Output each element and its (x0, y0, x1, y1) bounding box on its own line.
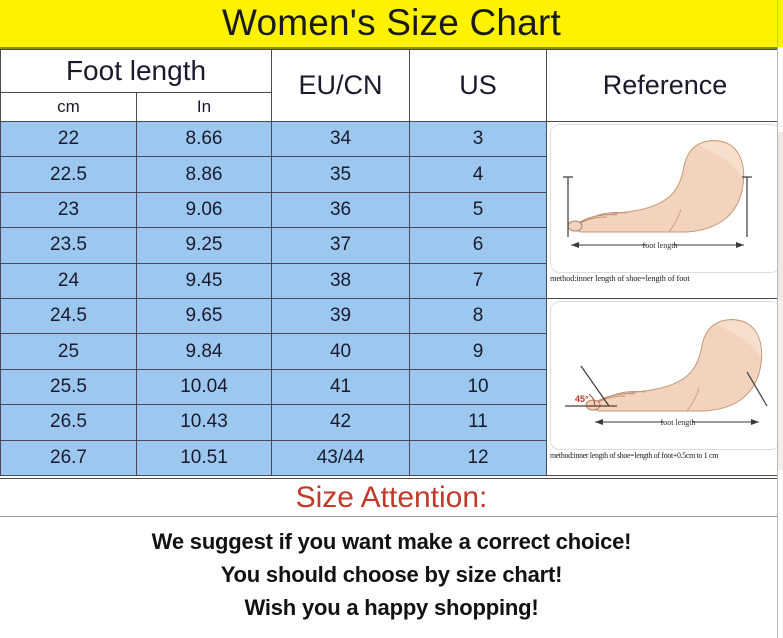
svg-text:45°: 45° (575, 394, 589, 404)
cell-us: 8 (410, 298, 547, 333)
cell-cm: 26.5 (1, 405, 137, 440)
table-row: 22 8.66 34 3 (1, 122, 783, 157)
cell-cm: 24 (1, 263, 137, 298)
reference-figure-1-caption: method:inner length of shoe=length of fo… (547, 273, 778, 284)
cell-cm: 25.5 (1, 369, 137, 404)
cell-us: 10 (410, 369, 547, 404)
cell-eu-cn: 38 (272, 263, 410, 298)
size-attention-heading: Size Attention: (296, 481, 488, 515)
cell-us: 4 (410, 157, 547, 192)
cell-in: 10.04 (137, 369, 272, 404)
footer-note-1: We suggest if you want make a correct ch… (0, 520, 783, 558)
foot-diagram-svg: foot length (551, 125, 780, 272)
reference-figure-2-caption: method:inner length of shoe=length of fo… (547, 450, 778, 461)
cell-cm: 24.5 (1, 298, 137, 333)
cell-eu-cn: 35 (272, 157, 410, 192)
title-banner: Women's Size Chart (0, 0, 783, 47)
foot-side-view-with-length-measure-icon: foot length (550, 124, 781, 273)
reference-figure-1: foot length method:inner length of shoe=… (547, 122, 783, 298)
cell-eu-cn: 42 (272, 405, 410, 440)
cell-us: 6 (410, 228, 547, 263)
cell-cm: 23.5 (1, 228, 137, 263)
cell-eu-cn: 41 (272, 369, 410, 404)
header-cm: cm (1, 93, 137, 122)
page-title: Women's Size Chart (222, 4, 561, 41)
cell-in: 10.43 (137, 405, 272, 440)
adjacent-image-edge-sliver (777, 0, 783, 638)
cell-us: 12 (410, 440, 547, 475)
cell-in: 9.65 (137, 298, 272, 333)
footer-note-3: Wish you a happy shopping! (0, 591, 783, 624)
header-eu-cn: EU/CN (272, 50, 410, 122)
cell-in: 8.86 (137, 157, 272, 192)
cell-cm: 26.7 (1, 440, 137, 475)
footer-note-2: You should choose by size chart! (0, 558, 783, 591)
cell-eu-cn: 37 (272, 228, 410, 263)
cell-us: 7 (410, 263, 547, 298)
table-body: 22 8.66 34 3 (1, 122, 783, 476)
cell-in: 9.25 (137, 228, 272, 263)
header-foot-length: Foot length (1, 50, 272, 93)
cell-us: 5 (410, 192, 547, 227)
reference-figure-2: 45° foot length method:inner length of s… (547, 299, 783, 475)
cell-in: 9.06 (137, 192, 272, 227)
cell-eu-cn: 39 (272, 298, 410, 333)
cell-us: 9 (410, 334, 547, 369)
cell-cm: 22 (1, 122, 137, 157)
reference-figure-2-cell: 45° foot length method:inner length of s… (547, 298, 783, 475)
table-header: Foot length EU/CN US Reference cm In (1, 50, 783, 122)
cell-eu-cn: 34 (272, 122, 410, 157)
cell-eu-cn: 36 (272, 192, 410, 227)
foot-side-view-with-45-degree-angle-icon: 45° foot length (550, 301, 781, 450)
header-reference: Reference (547, 50, 783, 122)
cell-cm: 23 (1, 192, 137, 227)
reference-figure-1-cell: foot length method:inner length of shoe=… (547, 122, 783, 299)
foot-angle-diagram-svg: 45° foot length (551, 302, 780, 449)
size-chart-table: Foot length EU/CN US Reference cm In 22 … (0, 49, 783, 476)
table-row: 24.5 9.65 39 8 (1, 298, 783, 333)
cell-us: 3 (410, 122, 547, 157)
header-us: US (410, 50, 547, 122)
header-row-primary: Foot length EU/CN US Reference (1, 50, 783, 93)
svg-text:foot length: foot length (642, 241, 677, 250)
footer-notes: We suggest if you want make a correct ch… (0, 520, 783, 624)
cell-us: 11 (410, 405, 547, 440)
cell-in: 9.84 (137, 334, 272, 369)
cell-in: 10.51 (137, 440, 272, 475)
cell-in: 8.66 (137, 122, 272, 157)
header-in: In (137, 93, 272, 122)
size-attention-banner: Size Attention: (0, 478, 783, 517)
cell-in: 9.45 (137, 263, 272, 298)
cell-cm: 22.5 (1, 157, 137, 192)
cell-eu-cn: 40 (272, 334, 410, 369)
cell-cm: 25 (1, 334, 137, 369)
svg-text:foot length: foot length (660, 418, 695, 427)
cell-eu-cn: 43/44 (272, 440, 410, 475)
